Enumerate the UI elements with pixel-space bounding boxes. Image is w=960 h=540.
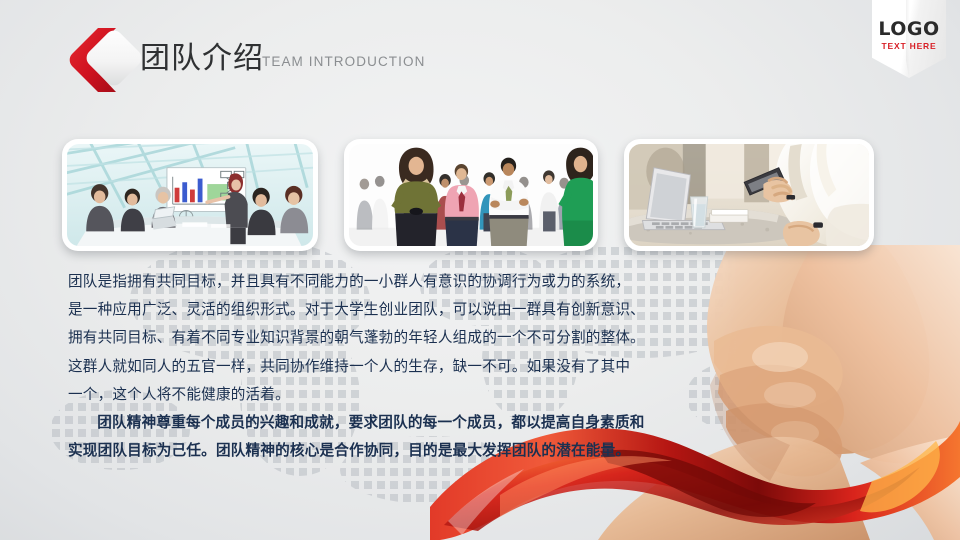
body-line-2: 是一种应用广泛、灵活的组织形式。对于大学生创业团队，可以说由一群具有创新意识、 bbox=[68, 296, 668, 324]
page-title-en: TEAM INTRODUCTION bbox=[262, 54, 425, 70]
body-paragraphs: 团队是指拥有共同目标，并且具有不同能力的一小群人有意识的协调行为或力的系统， 是… bbox=[68, 268, 668, 465]
body-line-3: 拥有共同目标、有着不同专业知识背景的朝气蓬勃的年轻人组成的一个不可分割的整体。 bbox=[68, 324, 668, 352]
business-meeting-presentation-image bbox=[67, 144, 313, 246]
page-title-cn: 团队介绍 bbox=[140, 42, 264, 76]
body-line-6: 团队精神尊重每个成员的兴趣和成就，要求团队的每一个成员，都以提高自身素质和 bbox=[68, 409, 668, 437]
photo-card-meeting[interactable] bbox=[62, 139, 318, 251]
professional-with-laptop-image bbox=[629, 144, 869, 246]
corner-logo-badge: LOGO TEXT HERE bbox=[872, 0, 946, 78]
photo-card-laptop[interactable] bbox=[624, 139, 874, 251]
body-line-1: 团队是指拥有共同目标，并且具有不同能力的一小群人有意识的协调行为或力的系统， bbox=[68, 268, 668, 296]
red-chevron-diamond-logo-icon bbox=[56, 22, 142, 100]
photo-card-group[interactable] bbox=[344, 139, 598, 251]
body-line-5: 一个，这个人将不能健康的活着。 bbox=[68, 381, 668, 409]
slide-header: 团队介绍 TEAM INTRODUCTION LOGO TEXT HERE bbox=[0, 0, 960, 112]
diverse-business-group-image bbox=[349, 144, 593, 246]
body-line-4: 这群人就如同人的五官一样，共同协作维持一个人的生存，缺一不可。如果没有了其中 bbox=[68, 353, 668, 381]
badge-sub-text: TEXT HERE bbox=[872, 41, 946, 51]
badge-logo-text: LOGO bbox=[872, 18, 946, 40]
body-line-7: 实现团队目标为己任。团队精神的核心是合作协同，目的是最大发挥团队的潜在能量。 bbox=[68, 437, 668, 465]
